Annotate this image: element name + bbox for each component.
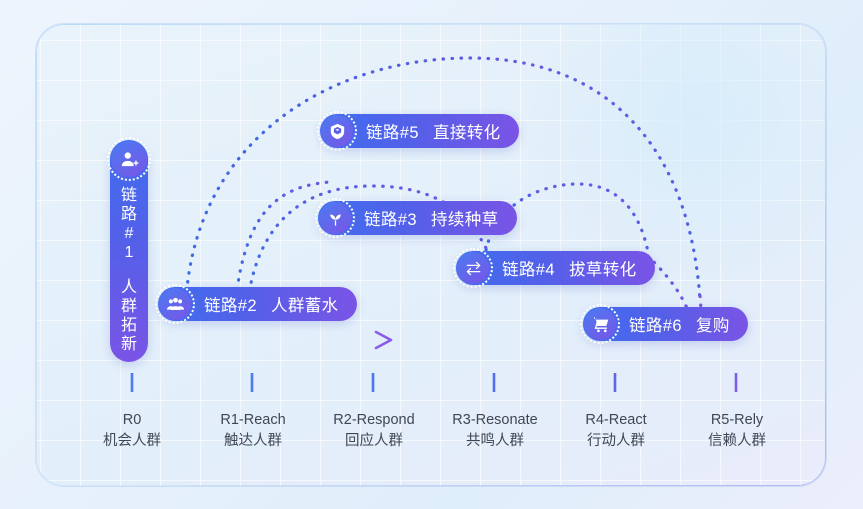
node-4-icon-ring xyxy=(453,248,493,288)
node-chain-4[interactable]: 链路#4 拔草转化 xyxy=(456,251,655,285)
axis-label-r3-cn: 共鸣人群 xyxy=(430,431,560,452)
node-1-chars-bottom: 人群拓新 xyxy=(110,278,148,354)
node-1-char: 路 xyxy=(110,205,148,224)
axis-label-r4-cn: 行动人群 xyxy=(551,431,681,452)
axis-label-r5-cn: 信赖人群 xyxy=(672,431,802,452)
node-1-vertical-label: 链路#1 人群拓新 xyxy=(110,186,148,354)
node-chain-1[interactable]: 链路#1 人群拓新 xyxy=(110,140,148,362)
axis-label-r4: R4-React 行动人群 xyxy=(551,410,681,452)
node-3-desc: 持续种草 xyxy=(431,206,499,230)
node-chain-2[interactable]: 链路#2 人群蓄水 xyxy=(158,287,357,321)
node-5-label: 链路#5 直接转化 xyxy=(366,119,501,143)
node-3-label: 链路#3 持续种草 xyxy=(364,206,499,230)
node-1-char: 人 xyxy=(110,278,148,297)
shopping-cart-icon xyxy=(584,308,616,340)
exchange-arrows-icon xyxy=(457,252,489,284)
axis-label-r1: R1-Reach 触达人群 xyxy=(188,410,318,452)
node-2-icon-ring xyxy=(155,284,195,324)
node-5-icon-ring xyxy=(317,111,357,151)
axis-label-r5-code: R5-Rely xyxy=(711,412,763,428)
axis-label-r0: R0 机会人群 xyxy=(67,410,197,452)
shield-box-icon xyxy=(321,115,353,147)
node-4-label: 链路#4 拔草转化 xyxy=(502,256,637,280)
node-1-icon-ring xyxy=(107,137,151,181)
node-3-icon-ring xyxy=(315,198,355,238)
axis-label-r2: R2-Respond 回应人群 xyxy=(309,410,439,452)
axis-label-r2-cn: 回应人群 xyxy=(309,431,439,452)
axis-label-r4-code: R4-React xyxy=(585,412,646,428)
node-1-char: 链 xyxy=(110,186,148,205)
axis-label-r5: R5-Rely 信赖人群 xyxy=(672,410,802,452)
node-3-name: 链路#3 xyxy=(364,206,417,230)
node-1-char: 群 xyxy=(110,297,148,316)
people-group-icon xyxy=(159,288,191,320)
node-4-desc: 拔草转化 xyxy=(569,256,637,280)
node-1-char: 1 xyxy=(110,243,148,262)
axis-label-r1-code: R1-Reach xyxy=(220,412,285,428)
node-1-char: # xyxy=(110,224,148,243)
node-5-name: 链路#5 xyxy=(366,119,419,143)
node-chain-3[interactable]: 链路#3 持续种草 xyxy=(318,201,517,235)
node-1-char: 新 xyxy=(110,335,148,354)
axis-label-r1-cn: 触达人群 xyxy=(188,431,318,452)
axis-label-r0-code: R0 xyxy=(123,412,142,428)
axis-label-r2-code: R2-Respond xyxy=(333,412,414,428)
axis-label-r3-code: R3-Resonate xyxy=(452,412,537,428)
node-1-char: 拓 xyxy=(110,316,148,335)
user-plus-icon xyxy=(111,141,147,177)
diagram-stage: 链路#1 人群拓新 链路#2 人群蓄水 xyxy=(0,0,863,509)
node-5-desc: 直接转化 xyxy=(433,119,501,143)
node-6-icon-ring xyxy=(580,304,620,344)
node-chain-5[interactable]: 链路#5 直接转化 xyxy=(320,114,519,148)
sprout-icon xyxy=(319,202,351,234)
node-6-desc: 复购 xyxy=(696,312,730,336)
node-2-name: 链路#2 xyxy=(204,292,257,316)
node-4-name: 链路#4 xyxy=(502,256,555,280)
node-chain-6[interactable]: 链路#6 复购 xyxy=(583,307,748,341)
node-1-chars-top: 链路#1 xyxy=(110,186,148,262)
axis-label-r3: R3-Resonate 共鸣人群 xyxy=(430,410,560,452)
node-2-label: 链路#2 人群蓄水 xyxy=(204,292,339,316)
node-2-desc: 人群蓄水 xyxy=(271,292,339,316)
axis-label-r0-cn: 机会人群 xyxy=(67,431,197,452)
node-6-label: 链路#6 复购 xyxy=(629,312,730,336)
node-6-name: 链路#6 xyxy=(629,312,682,336)
